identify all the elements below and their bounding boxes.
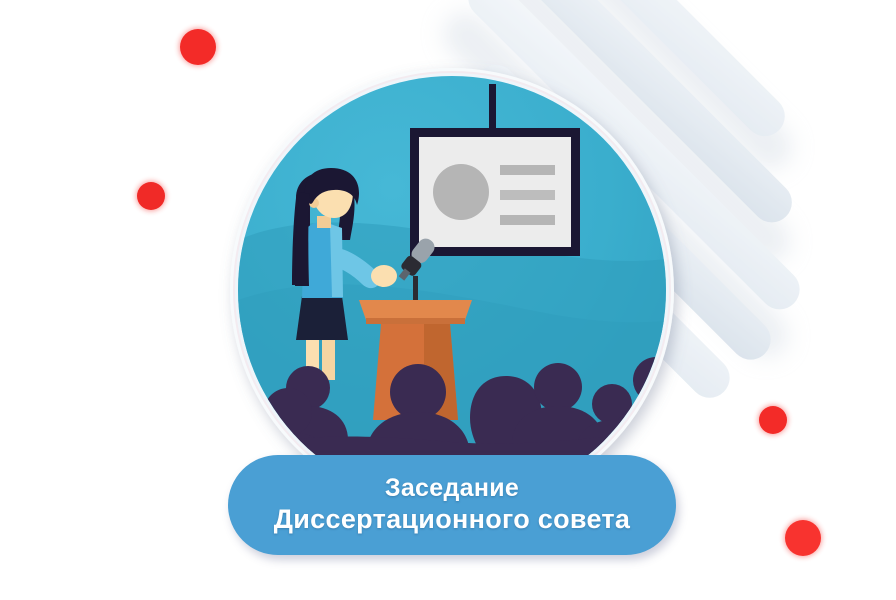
red-dot-bottom-right	[785, 520, 821, 556]
red-dot-top-left	[180, 29, 216, 65]
red-dot-mid-left	[137, 182, 165, 210]
illustration-canvas: Заседание Диссертационного совета	[0, 0, 896, 600]
accent-dots-layer	[0, 0, 896, 600]
accent-dots-glow	[136, 28, 822, 557]
red-dot-mid-right	[759, 406, 787, 434]
